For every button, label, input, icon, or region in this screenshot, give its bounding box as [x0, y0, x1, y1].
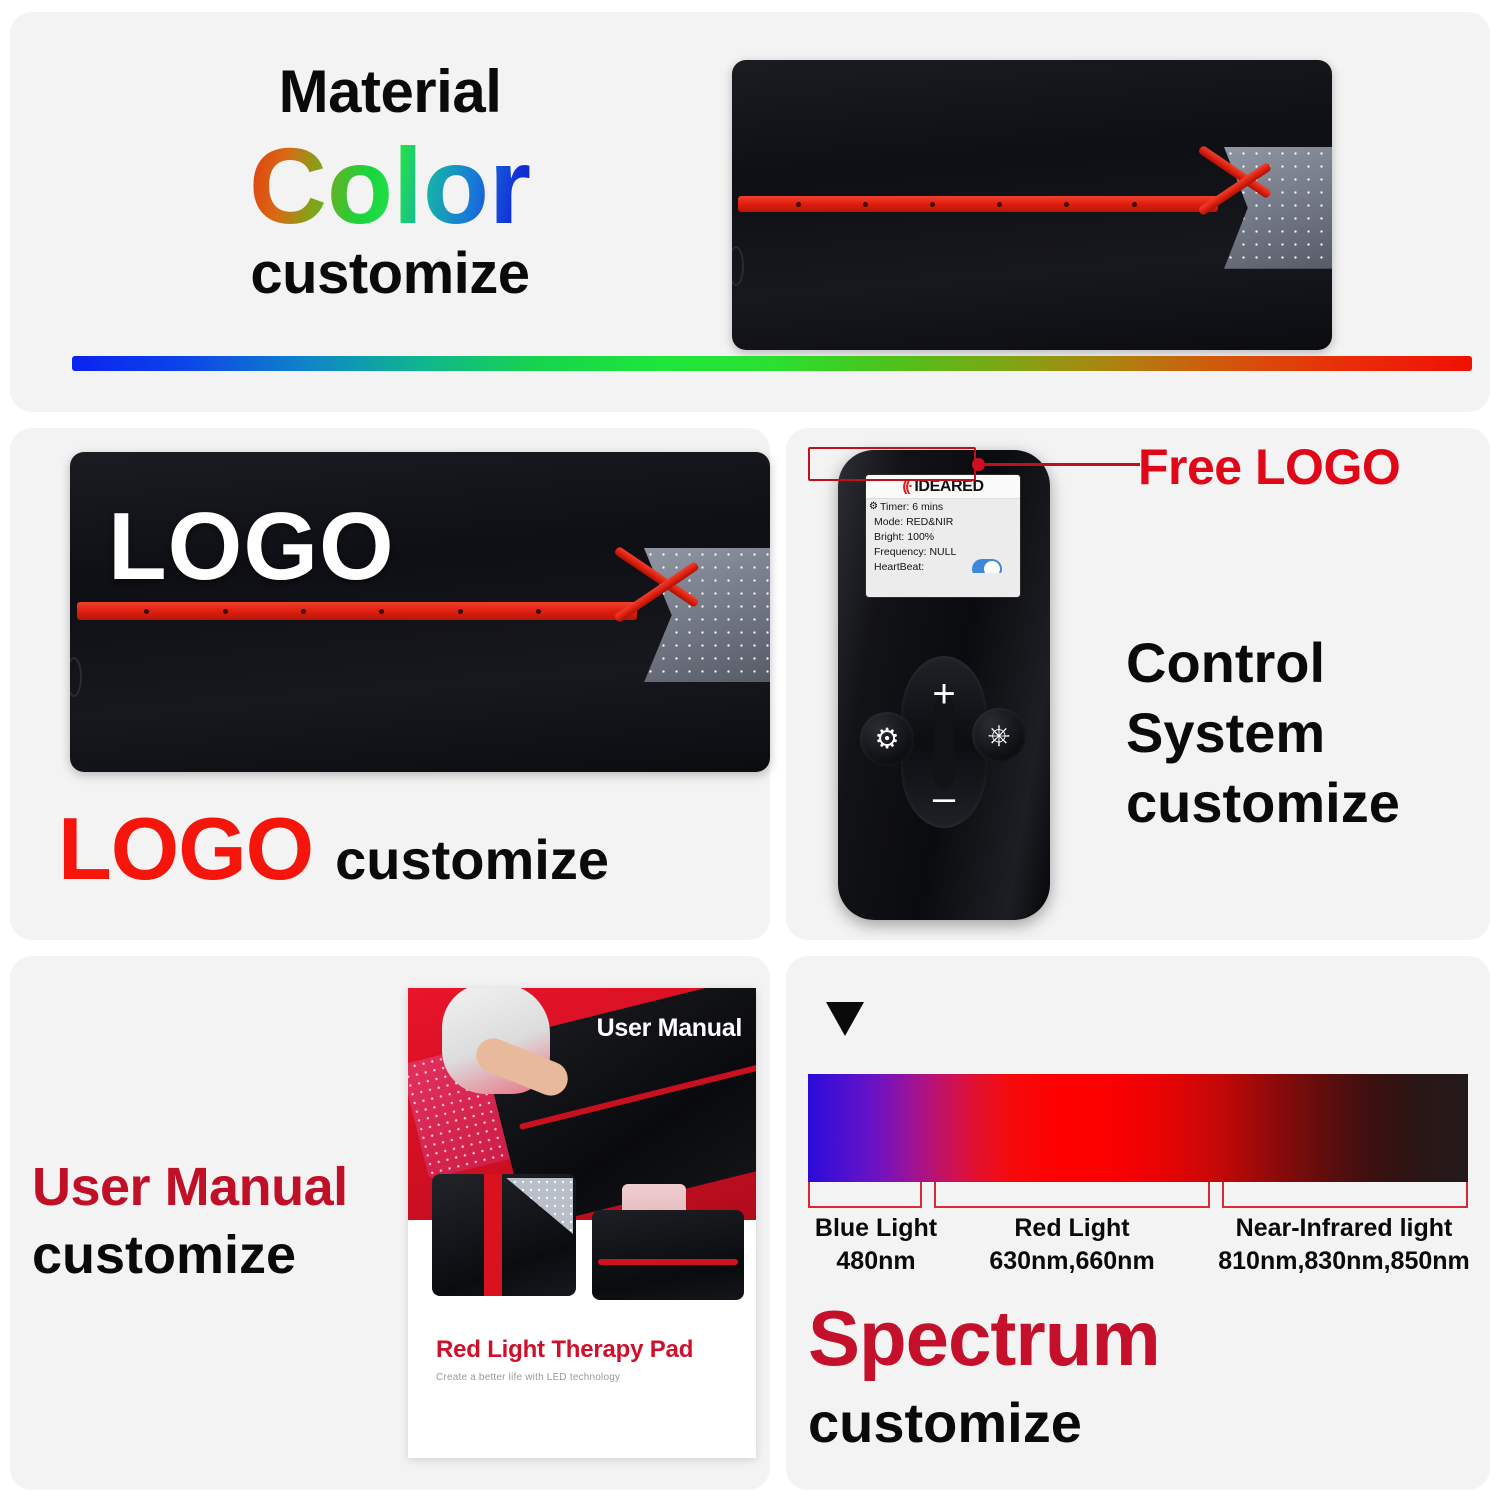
therapy-pad-image-logo: LOGO	[70, 452, 770, 772]
increase-button[interactable]: +	[932, 674, 955, 714]
pad-strap	[70, 657, 82, 697]
screen-row-brightness: Bright: 100%	[866, 529, 1020, 544]
callout-leader-line	[982, 463, 1140, 466]
gear-icon: ⚙	[869, 501, 878, 512]
screen-row-timer-text: Timer: 6 mins	[880, 501, 943, 513]
control-caption-line-1: Control	[1126, 628, 1466, 698]
gear-icon: ⚙	[874, 725, 899, 753]
logo-caption-customize: customize	[335, 827, 609, 892]
free-logo-label: Free LOGO	[1138, 438, 1400, 496]
label-near-infrared: Near-Infrared light 810nm,830nm,850nm	[1198, 1214, 1490, 1276]
screen-row-mode: Mode: RED&NIR	[866, 514, 1020, 529]
spectrum-gradient-bar	[808, 1074, 1468, 1182]
panel-user-manual: User Manual customize User Manual Red Li…	[10, 956, 770, 1490]
power-icon: ⎈	[988, 721, 1010, 749]
material-customize-label: customize	[110, 244, 670, 305]
bracket-red-light	[934, 1182, 1210, 1208]
bracket-near-infrared	[1222, 1182, 1468, 1208]
user-manual-customize-label: customize	[32, 1224, 348, 1286]
down-triangle-icon	[826, 1002, 864, 1036]
color-gradient-bar	[72, 356, 1472, 371]
near-infrared-wavelength: 810nm,830nm,850nm	[1198, 1247, 1490, 1276]
panel-control-system: ((· IDEARED ⚙ Timer: 6 mins Mode: RED&NI…	[786, 428, 1490, 940]
remote-control-device[interactable]: ((· IDEARED ⚙ Timer: 6 mins Mode: RED&NI…	[838, 450, 1050, 920]
pad-zipper	[738, 196, 1218, 212]
spectrum-caption: Spectrum customize	[808, 1298, 1160, 1455]
material-text-block: Material Color customize	[110, 60, 670, 305]
book-product-carry	[592, 1210, 744, 1300]
book-product-subtitle: Create a better life with LED technology	[436, 1372, 620, 1383]
pad-led-panel	[644, 548, 770, 682]
screen-row-timer: ⚙ Timer: 6 mins	[866, 499, 1020, 514]
logo-caption: LOGO customize	[58, 798, 609, 900]
bracket-blue-light	[808, 1182, 922, 1208]
free-logo-highlight-box	[808, 447, 976, 481]
control-caption-line-2: System	[1126, 698, 1466, 768]
panel-material-color: Material Color customize	[10, 12, 1490, 412]
settings-button[interactable]: ⚙	[860, 712, 914, 766]
heartbeat-toggle[interactable]	[972, 559, 1002, 573]
remote-screen: ((· IDEARED ⚙ Timer: 6 mins Mode: RED&NI…	[865, 474, 1021, 598]
label-red-light: Red Light 630nm,660nm	[934, 1214, 1210, 1276]
book-hero-title: User Manual	[597, 1014, 742, 1043]
power-button[interactable]: ⎈	[972, 708, 1026, 762]
user-manual-book-cover: User Manual Red Light Therapy Pad Create…	[408, 988, 756, 1458]
pad-led-panel	[1224, 147, 1332, 269]
therapy-pad-image-material	[732, 60, 1332, 350]
logo-caption-red: LOGO	[58, 798, 313, 900]
pad-zipper	[77, 602, 637, 620]
screen-row-heartbeat: HeartBeat:	[866, 559, 1020, 573]
user-manual-title-red: User Manual	[32, 1156, 348, 1218]
material-heading: Material	[110, 60, 670, 123]
spectrum-title-red: Spectrum	[808, 1298, 1160, 1380]
panel-logo-customize: LOGO LOGO customize	[10, 428, 770, 940]
user-manual-caption: User Manual customize	[32, 1156, 348, 1286]
infographic-page: Material Color customize	[0, 0, 1500, 1500]
book-product-folded	[432, 1174, 576, 1296]
panel-spectrum: Blue Light 480nm Red Light 630nm,660nm N…	[786, 956, 1490, 1490]
control-caption-line-3: customize	[1126, 768, 1466, 838]
screen-row-frequency: Frequency: NULL	[866, 544, 1020, 559]
decrease-button[interactable]: –	[933, 778, 955, 818]
signal-icon: ((·	[902, 479, 911, 494]
book-product-title: Red Light Therapy Pad	[436, 1336, 693, 1364]
control-system-caption: Control System customize	[1126, 628, 1466, 838]
spectrum-customize-label: customize	[808, 1390, 1160, 1455]
red-light-name: Red Light	[934, 1214, 1210, 1243]
screen-row-heartbeat-text: HeartBeat:	[874, 561, 924, 573]
near-infrared-name: Near-Infrared light	[1198, 1214, 1490, 1243]
red-light-wavelength: 630nm,660nm	[934, 1247, 1210, 1276]
color-gradient-word: Color	[249, 129, 531, 242]
pad-strap	[732, 246, 744, 286]
pad-logo-overlay-text: LOGO	[108, 492, 395, 602]
